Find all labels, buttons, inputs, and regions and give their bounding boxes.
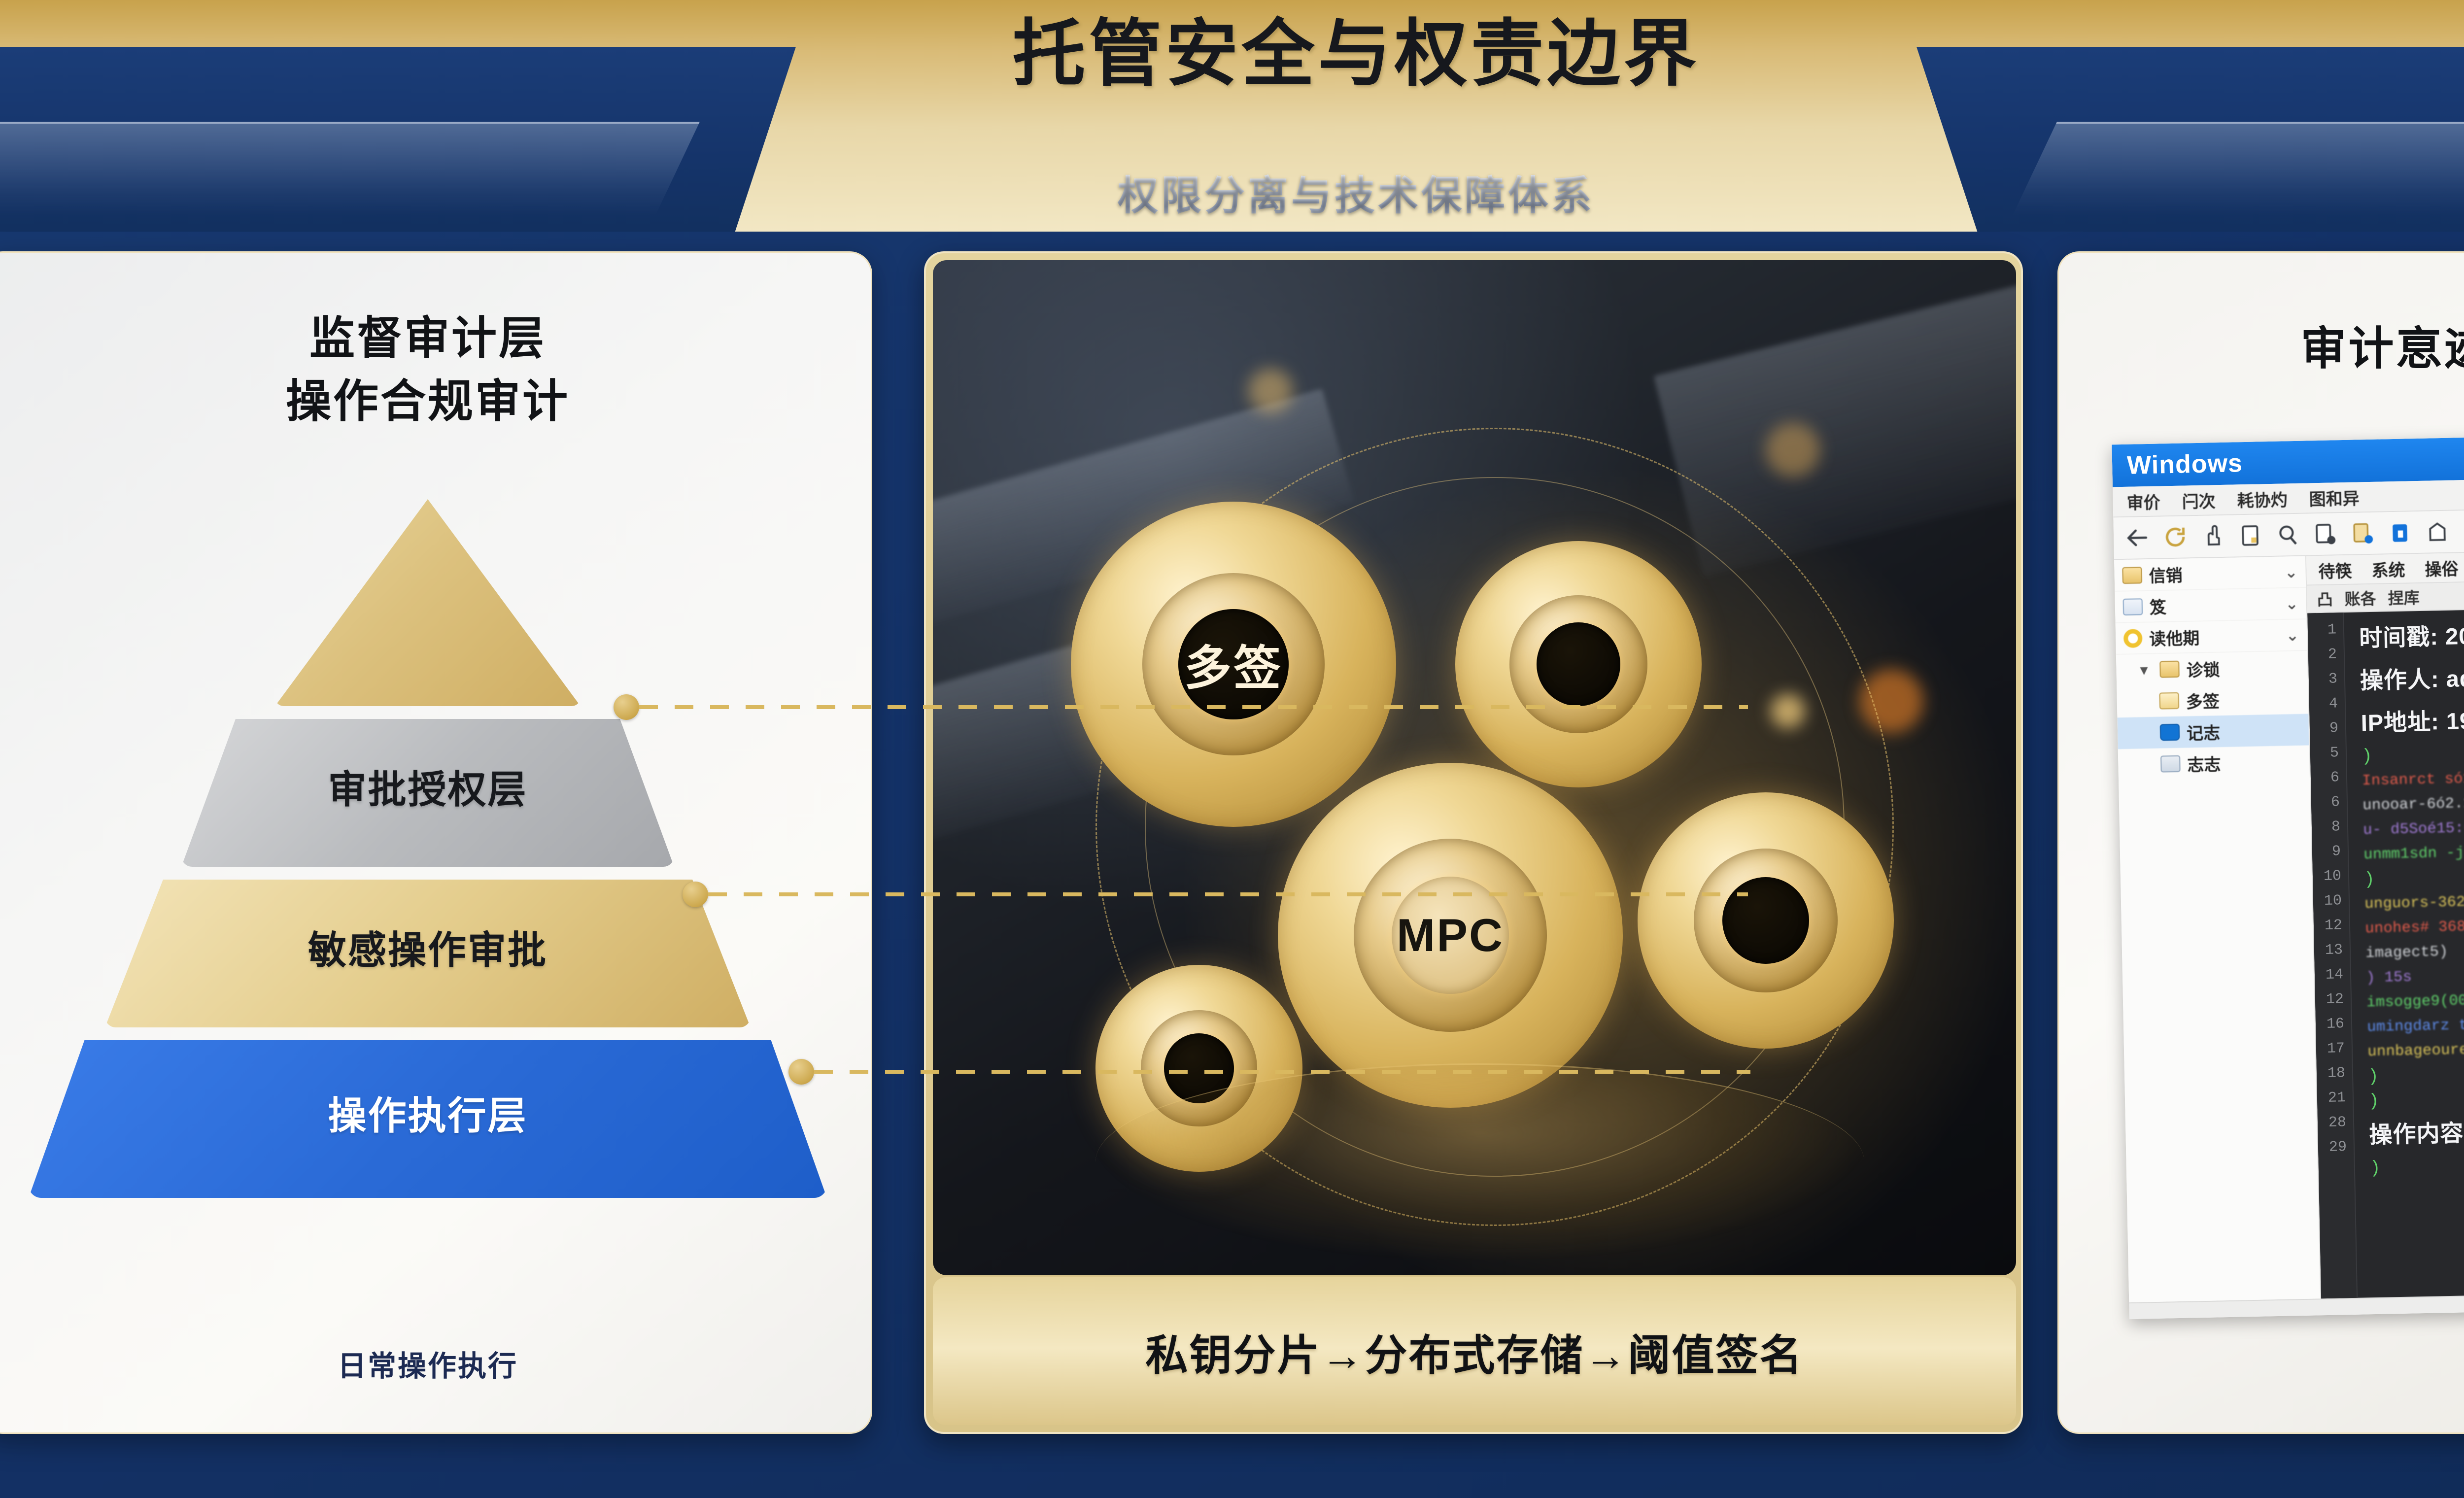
caret-down-icon[interactable]: ▾ bbox=[2140, 660, 2148, 679]
up-hand-icon[interactable] bbox=[2200, 524, 2225, 549]
window-title-bar: Windows bbox=[2112, 431, 2464, 487]
clipboard-icon bbox=[2160, 755, 2181, 773]
pyramid-row-3: 敏感操作审批 bbox=[0, 867, 872, 1027]
document-icon-sidebar bbox=[2159, 692, 2179, 710]
line-number: 18 bbox=[2317, 1061, 2346, 1086]
bell-icon[interactable] bbox=[2463, 518, 2464, 544]
gear-secondary-top-cap bbox=[1537, 622, 1620, 706]
page-title: 托管安全与权责边界 bbox=[0, 5, 2464, 103]
panel-permission-pyramid: 监督审计层 操作合规审计 审批授权层 敏感操作审批 操作执行层 日常操作执行 bbox=[0, 251, 872, 1434]
line-number: 17 bbox=[2316, 1036, 2345, 1061]
sidebar-item-2-label: 读他期 bbox=[2149, 625, 2200, 650]
line-number: 1 bbox=[2307, 617, 2336, 643]
line-number: 21 bbox=[2317, 1086, 2346, 1111]
pyramid: 审批授权层 敏感操作审批 操作执行层 bbox=[0, 499, 872, 1198]
pyramid-heading-line2: 操作合规审计 bbox=[0, 370, 872, 433]
sidebar-item-0-label: 信销 bbox=[2149, 562, 2183, 587]
gear-multisig-label: 多签 bbox=[1178, 609, 1289, 719]
key-technology-caption: 私钥分片→分布式存储→阈值签名 bbox=[933, 1277, 2016, 1425]
line-number: 9 bbox=[2312, 839, 2341, 864]
line-number: 12 bbox=[2315, 987, 2344, 1012]
page-subtitle: 权限分离与技术保障体系 bbox=[0, 163, 2464, 221]
line-number: 6 bbox=[2311, 790, 2340, 815]
log-lines: 时间戳: 2024-08-01 14:30操作人: adminIP地址: 192… bbox=[2344, 603, 2464, 1298]
sidebar-item-3-label: 诊锁 bbox=[2186, 656, 2220, 681]
line-number: 2 bbox=[2308, 642, 2337, 667]
windows-app-window: Windows 审价 闩次 耗协灼 图和异 bbox=[2112, 431, 2464, 1319]
menu-item-2[interactable]: 耗协灼 bbox=[2237, 486, 2288, 511]
window-main-area: 待筷 系统 操俗 凸 账各 捏库 12349566891010121314121… bbox=[2306, 546, 2464, 1298]
bokeh-1 bbox=[1248, 369, 1293, 413]
line-number: 10 bbox=[2313, 864, 2342, 889]
pyramid-footer-caption: 日常操作执行 bbox=[0, 1343, 872, 1384]
line-number: 9 bbox=[2309, 716, 2338, 741]
pyramid-tier-execution-label: 操作执行层 bbox=[0, 1085, 872, 1140]
folder-open-icon bbox=[2159, 661, 2180, 678]
note-icon[interactable] bbox=[2350, 521, 2375, 546]
line-number: 8 bbox=[2312, 815, 2341, 840]
chevron-down-icon-1[interactable]: ⌄ bbox=[2285, 594, 2299, 613]
chevron-down-icon-2[interactable]: ⌄ bbox=[2286, 625, 2299, 645]
line-number: 16 bbox=[2316, 1012, 2345, 1037]
tab-0[interactable]: 待筷 bbox=[2318, 557, 2352, 582]
breadcrumb-2[interactable]: 捏库 bbox=[2388, 585, 2420, 609]
window-body: 信销 ⌄ 笈 ⌄ 读他期 ⌄ ▾ 诊锁 bbox=[2114, 546, 2464, 1302]
audit-trail-heading: 审计恴迹 bbox=[2059, 312, 2464, 377]
file-lock-icon[interactable] bbox=[2313, 521, 2338, 546]
sidebar-item-4[interactable]: 多签 bbox=[2117, 682, 2308, 718]
bokeh-2 bbox=[1766, 423, 1820, 477]
search-icon[interactable] bbox=[2275, 522, 2300, 547]
folder-icon bbox=[2122, 567, 2142, 584]
line-number: 5 bbox=[2310, 741, 2339, 766]
connector-dash-1 bbox=[639, 705, 1748, 709]
chevron-down-icon-0[interactable]: ⌄ bbox=[2284, 562, 2298, 581]
pyramid-tier-approval-label: 审批授权层 bbox=[0, 759, 872, 814]
pyramid-tier-sensitive[interactable]: 敏感操作审批 bbox=[105, 880, 751, 1027]
gear-pedestal-glow bbox=[1095, 1063, 1864, 1260]
tab-2[interactable]: 操俗 bbox=[2425, 555, 2459, 580]
gear-secondary-right-cap bbox=[1722, 877, 1810, 964]
sidebar-item-3[interactable]: ▾ 诊锁 bbox=[2116, 651, 2308, 686]
pyramid-heading-line1: 监督审计层 bbox=[0, 307, 872, 370]
connector-dot-2 bbox=[683, 882, 708, 907]
box-icon[interactable] bbox=[2425, 519, 2450, 545]
pyramid-row-2: 审批授权层 bbox=[0, 706, 872, 867]
connector-dot-3 bbox=[788, 1059, 814, 1085]
pyramid-tier-execution[interactable]: 操作执行层 bbox=[29, 1040, 827, 1198]
menu-item-0[interactable]: 审价 bbox=[2126, 489, 2160, 513]
lock-icon bbox=[2123, 598, 2143, 615]
line-number: 14 bbox=[2315, 962, 2344, 987]
sidebar-item-4-label: 多签 bbox=[2186, 688, 2220, 713]
breadcrumb-1[interactable]: 账各 bbox=[2344, 586, 2376, 610]
log-code-view[interactable]: 1234956689101012131412161718212829 时间戳: … bbox=[2307, 603, 2464, 1298]
panel-audit-trail: 审计恴迹 Windows 审价 闩次 耗协灼 图和异 bbox=[2057, 251, 2464, 1434]
line-number: 28 bbox=[2318, 1110, 2347, 1135]
line-number: 29 bbox=[2318, 1135, 2347, 1160]
back-arrow-icon[interactable] bbox=[2125, 525, 2151, 550]
gear-secondary-right[interactable] bbox=[1638, 792, 1894, 1049]
sidebar-item-1[interactable]: 笈 ⌄ bbox=[2115, 588, 2306, 623]
line-number: 12 bbox=[2314, 913, 2343, 938]
clipboard-lock-icon[interactable] bbox=[2388, 520, 2413, 545]
menu-item-3[interactable]: 图和异 bbox=[2309, 485, 2360, 510]
breadcrumb-0[interactable]: 凸 bbox=[2317, 587, 2333, 610]
pyramid-row-1 bbox=[0, 499, 872, 706]
line-number: 10 bbox=[2313, 888, 2342, 914]
sidebar-item-2[interactable]: 读他期 ⌄ bbox=[2116, 619, 2307, 655]
pyramid-row-4: 操作执行层 bbox=[0, 1027, 872, 1198]
sidebar-item-1-label: 笈 bbox=[2149, 594, 2166, 618]
line-number: 13 bbox=[2314, 938, 2343, 963]
line-number: 4 bbox=[2309, 691, 2338, 716]
tab-1[interactable]: 系统 bbox=[2371, 556, 2405, 581]
sidebar-item-6-label: 志志 bbox=[2187, 751, 2221, 776]
menu-item-1[interactable]: 闩次 bbox=[2182, 488, 2216, 512]
ring-icon bbox=[2123, 629, 2143, 648]
gear-illustration: 多签 MPC bbox=[933, 260, 2016, 1275]
line-number: 3 bbox=[2308, 667, 2337, 692]
connector-dash-2 bbox=[708, 892, 1748, 896]
sidebar-item-5[interactable]: 记志 bbox=[2117, 714, 2309, 749]
sidebar-item-6[interactable]: 志志 bbox=[2118, 746, 2310, 781]
sidebar-item-5-label: 记志 bbox=[2187, 719, 2221, 744]
connector-dash-3 bbox=[814, 1070, 1750, 1074]
blue-tag-icon bbox=[2160, 724, 2180, 741]
gear-mpc[interactable]: MPC bbox=[1278, 763, 1623, 1108]
file-icon[interactable] bbox=[2238, 523, 2263, 548]
pyramid-tier-sensitive-label: 敏感操作审批 bbox=[0, 919, 872, 975]
connector-dot-1 bbox=[614, 694, 639, 720]
panel-key-technology: 多签 MPC 私钥分片→分布式存储→阈值签名 bbox=[924, 251, 2023, 1434]
line-number: 6 bbox=[2310, 765, 2339, 790]
log-entry: 时间戳: 2024-08-01 14:30 bbox=[2359, 608, 2464, 660]
sidebar-item-0[interactable]: 信销 ⌄ bbox=[2114, 556, 2306, 592]
pyramid-heading: 监督审计层 操作合规审计 bbox=[0, 307, 872, 433]
pyramid-tier-approval[interactable]: 审批授权层 bbox=[181, 719, 674, 867]
refresh-icon[interactable] bbox=[2163, 524, 2188, 549]
pyramid-tier-top[interactable] bbox=[275, 499, 581, 706]
window-sidebar[interactable]: 信销 ⌄ 笈 ⌄ 读他期 ⌄ ▾ 诊锁 bbox=[2114, 556, 2321, 1303]
